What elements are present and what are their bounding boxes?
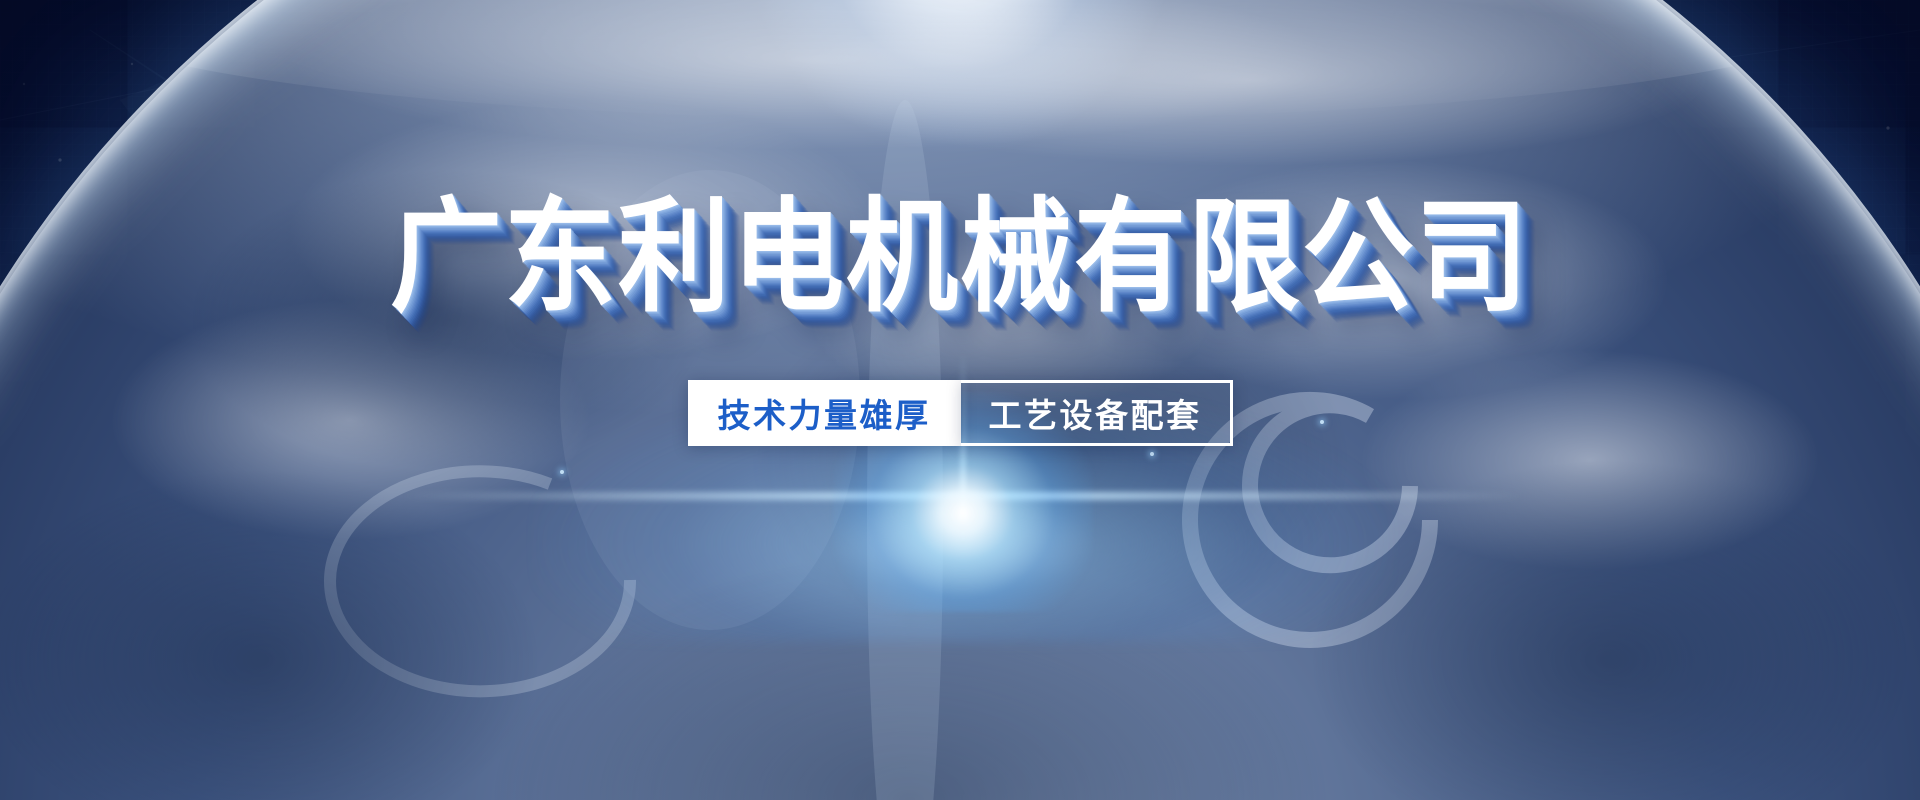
slogan-tag-primary-label: 技术力量雄厚 xyxy=(718,389,931,437)
company-title: 广东利电机械有限公司 xyxy=(390,196,1530,319)
slogan-tag-secondary[interactable]: 工艺设备配套 xyxy=(961,380,1233,446)
slogan-tag-group: 技术力量雄厚 工艺设备配套 xyxy=(0,380,1920,446)
hero-banner: 广东利电机械有限公司 技术力量雄厚 工艺设备配套 xyxy=(0,0,1920,800)
slogan-tag-secondary-label: 工艺设备配套 xyxy=(989,389,1202,437)
slogan-tag-primary[interactable]: 技术力量雄厚 xyxy=(688,380,961,446)
page-title: 广东利电机械有限公司 xyxy=(0,196,1920,308)
